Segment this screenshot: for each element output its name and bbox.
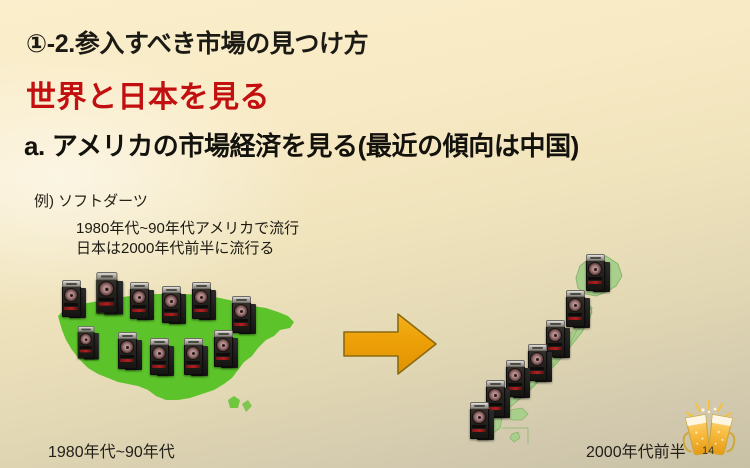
example-label: 例) ソフトダーツ <box>34 190 148 211</box>
slide-canvas: ①-2.参入すべき市場の見つけ方 世界と日本を見る a. アメリカの市場経済を見… <box>0 0 750 468</box>
dart-machine-icon <box>160 286 186 326</box>
dart-machine-icon <box>94 272 123 317</box>
caption-right-era: 2000年代前半 <box>586 438 686 462</box>
example-detail-block: 1980年代~90年代アメリカで流行 日本は2000年代前半に流行る <box>76 219 299 259</box>
dart-machine-icon <box>148 338 174 378</box>
transition-arrow <box>340 308 440 380</box>
page-title: ①-2.参入すべき市場の見つけ方 <box>26 24 368 60</box>
dart-machine-icon <box>182 338 208 378</box>
caption-left-era: 1980年代~90年代 <box>48 438 175 462</box>
page-number: 14 <box>702 445 714 457</box>
dart-machine-icon <box>468 402 494 442</box>
usa-map-group <box>52 282 302 422</box>
dart-machine-icon <box>190 282 216 322</box>
example-line-2: 日本は2000年代前半に流行る <box>76 239 299 259</box>
dart-machine-icon <box>116 332 142 372</box>
right-arrow-icon <box>340 308 440 380</box>
example-line-1: 1980年代~90年代アメリカで流行 <box>76 219 299 239</box>
dart-machine-icon <box>60 280 86 320</box>
subsection-heading: a. アメリカの市場経済を見る(最近の傾向は中国) <box>24 126 579 163</box>
dart-machine-icon <box>128 282 154 322</box>
section-heading-red: 世界と日本を見る <box>26 72 270 116</box>
dart-machine-icon <box>212 330 238 370</box>
dart-machine-icon <box>584 254 610 294</box>
japan-map-group <box>472 252 632 447</box>
dart-machine-icon <box>76 326 99 361</box>
